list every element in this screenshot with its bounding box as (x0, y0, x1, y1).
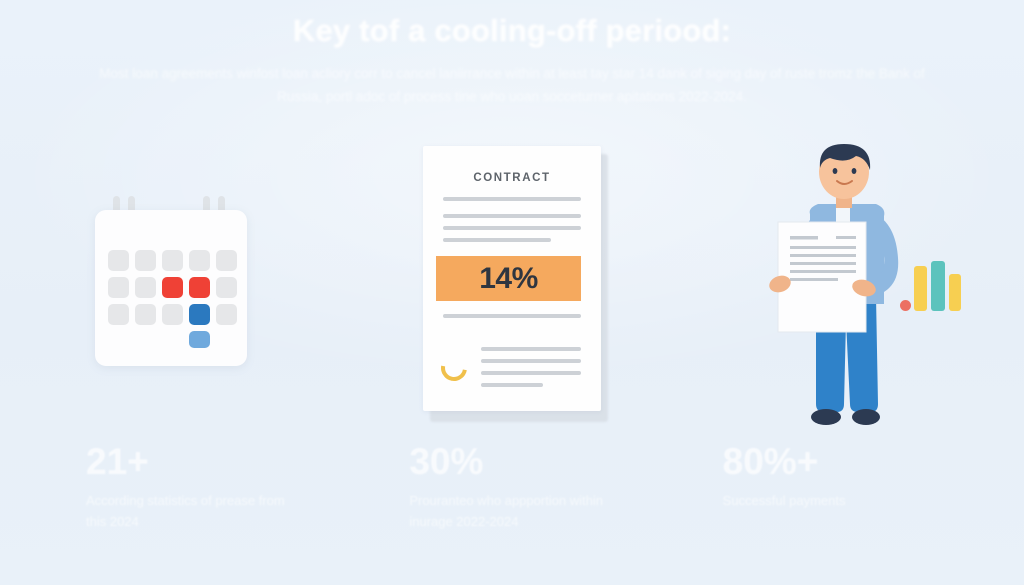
calendar-cell (108, 250, 129, 271)
calendar-cell (216, 304, 237, 325)
contract-heading: CONTRACT (443, 172, 581, 184)
stat-success: 80%+ Successful payments (711, 443, 1024, 543)
stat-caption: Successful payments (723, 491, 938, 512)
contract-lower-lines (481, 339, 581, 387)
calendar-cell (135, 304, 156, 325)
column-calendar (0, 128, 341, 428)
bar-teal (931, 261, 945, 311)
contract-text-line (443, 197, 581, 201)
person-illustration (738, 136, 968, 436)
contract-text-line (443, 214, 581, 218)
contract-document: CONTRACT 14% (423, 146, 601, 414)
contract-text-line (481, 371, 581, 375)
contract-text-line (481, 359, 581, 363)
bar-yellow-2 (949, 274, 961, 311)
calendar-cell (189, 250, 210, 271)
calendar-cell-highlight-red (189, 277, 210, 298)
calendar-body (95, 210, 247, 366)
calendar-cell-highlight-red (162, 277, 183, 298)
page-subtitle: Most loan agreements winfost loan aclior… (0, 62, 1024, 108)
stat-days: 21+ According statistics of prease from … (0, 443, 387, 543)
calendar-cell (216, 277, 237, 298)
contract-text-line (481, 383, 543, 387)
page-title: Key tof a cooling-off periood: (0, 12, 1024, 51)
contract-highlight-band: 14% (436, 256, 581, 301)
contract-text-line (443, 314, 581, 318)
stat-value: 30% (409, 443, 710, 480)
column-contract: CONTRACT 14% (341, 128, 682, 428)
header: Key tof a cooling-off periood: Most loan… (0, 12, 1024, 108)
calendar-cell (108, 304, 129, 325)
calendar-cell (162, 304, 183, 325)
stats-row: 21+ According statistics of prease from … (0, 443, 1024, 543)
seal-icon (436, 350, 472, 386)
contract-sheet: CONTRACT 14% (423, 146, 601, 411)
contract-text-line (443, 238, 551, 242)
calendar-cell (135, 250, 156, 271)
contract-text-line (443, 226, 581, 230)
calendar-grid (108, 250, 237, 325)
illustration-row: CONTRACT 14% (0, 128, 1024, 428)
stat-caption: According statistics of prease from this… (86, 491, 301, 533)
stat-percent: 30% Prouranteo who appportion within inu… (387, 443, 710, 543)
stat-value: 80%+ (723, 443, 1024, 480)
column-person (683, 128, 1024, 428)
contract-highlight-value: 14% (479, 262, 538, 296)
calendar-cell (216, 250, 237, 271)
stat-value: 21+ (86, 443, 387, 480)
calendar-icon (95, 196, 247, 366)
calendar-cell (135, 277, 156, 298)
calendar-cell-highlight-blue (189, 304, 210, 325)
bar-yellow-1 (914, 266, 927, 311)
contract-text-line (481, 347, 581, 351)
calendar-cell-highlight-blue-light (189, 331, 210, 348)
bar-red-dot (900, 300, 911, 311)
calendar-cell (162, 250, 183, 271)
stat-caption: Prouranteo who appportion within inurage… (409, 491, 624, 533)
calendar-cell (108, 277, 129, 298)
mini-bar-chart (900, 261, 960, 311)
